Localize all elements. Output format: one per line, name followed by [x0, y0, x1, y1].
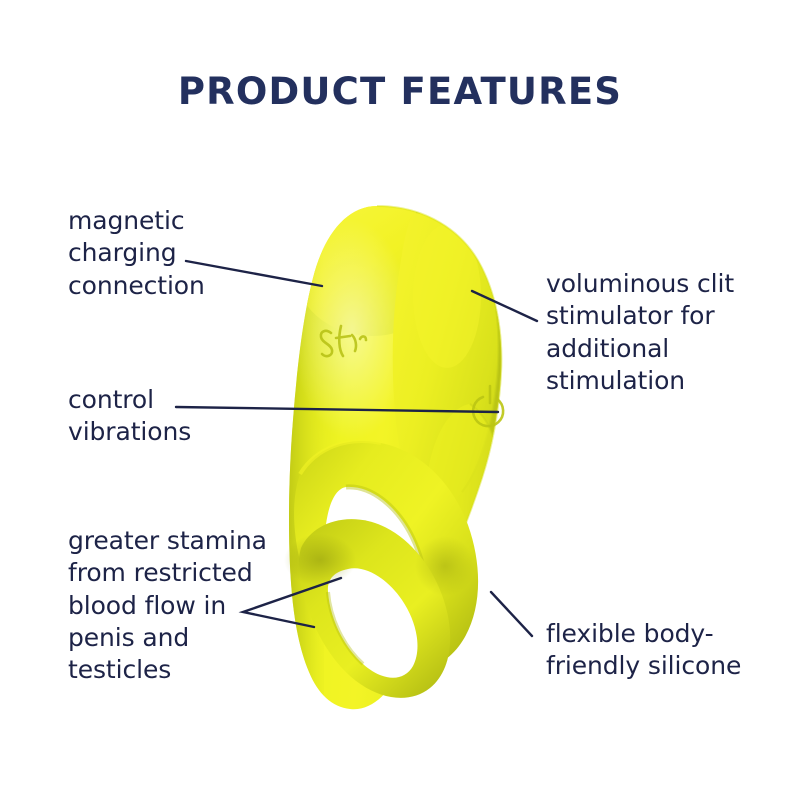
leader-line-control — [176, 407, 498, 412]
leader-lines — [0, 0, 800, 800]
leader-line-silicone — [491, 592, 532, 636]
product-features-infographic: PRODUCT FEATURES — [0, 0, 800, 800]
leader-line-stamina — [243, 578, 341, 627]
leader-line-clit — [472, 291, 537, 321]
leader-line-magnetic — [186, 261, 322, 286]
